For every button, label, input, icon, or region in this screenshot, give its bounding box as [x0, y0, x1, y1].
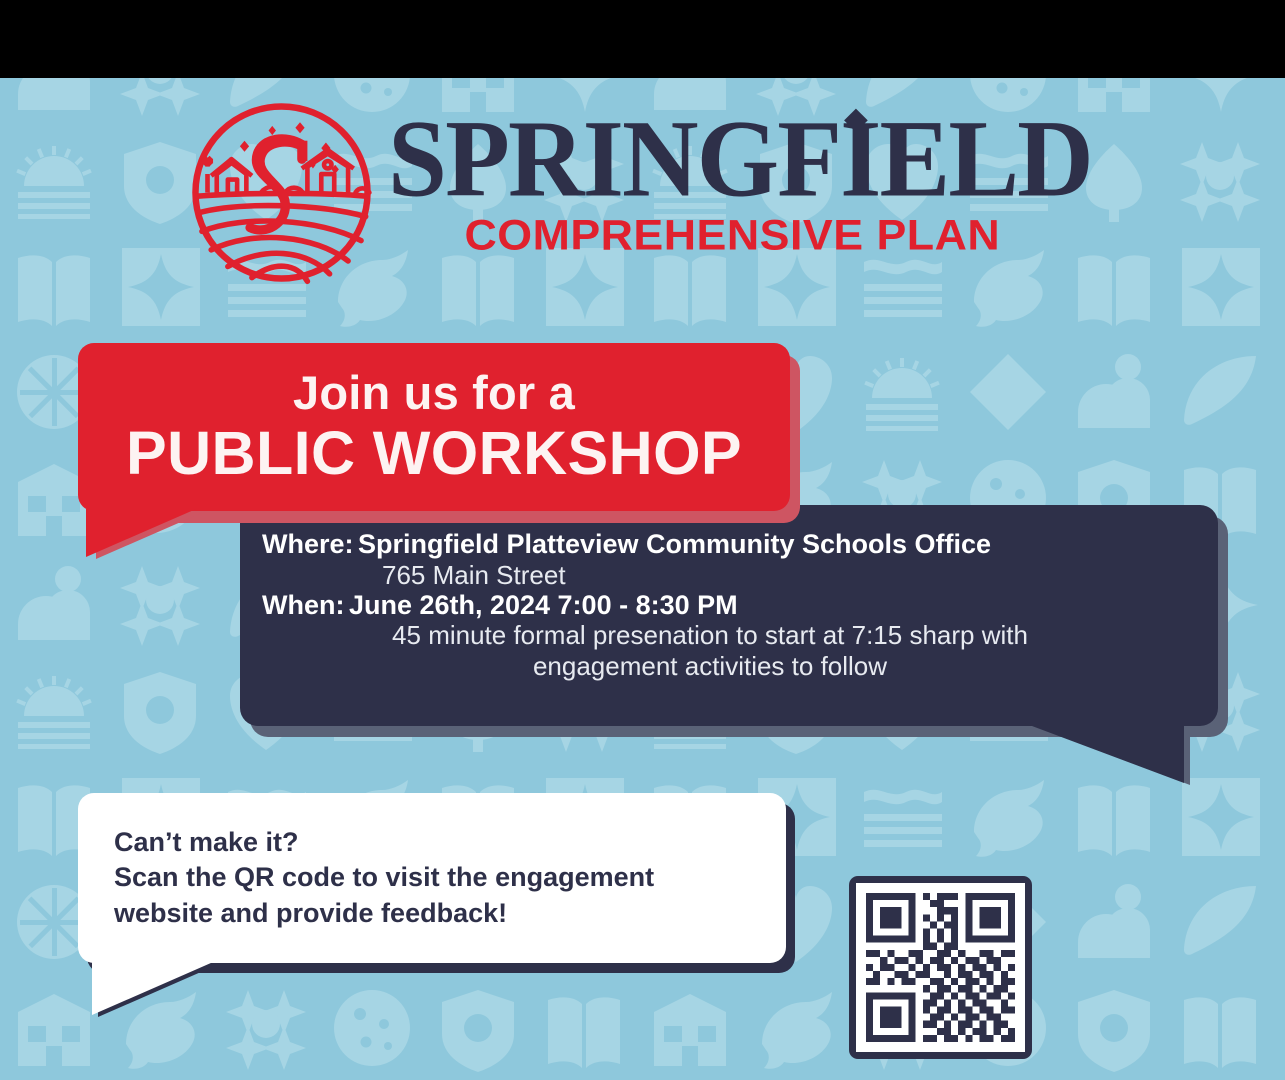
feedback-bubble: Can’t make it? Scan the QR code to visit… — [78, 793, 786, 963]
announcement-line-1: Join us for a — [293, 369, 575, 417]
feedback-line-1: Can’t make it? — [114, 825, 786, 861]
address-line: 765 Main Street — [262, 560, 1184, 590]
white-bubble-body: Can’t make it? Scan the QR code to visit… — [78, 793, 786, 963]
brand-header: SPRINGFIELD COMPREHENSIVE PLAN — [0, 96, 1285, 306]
red-bubble-body: Join us for a PUBLIC WORKSHOP — [78, 343, 790, 511]
announcement-bubble: Join us for a PUBLIC WORKSHOP — [78, 343, 790, 511]
poster-canvas: SPRINGFIELD COMPREHENSIVE PLAN Where: Sp… — [0, 78, 1285, 1080]
feedback-line-3: website and provide feedback! — [114, 896, 786, 932]
red-bubble-tail — [86, 509, 196, 557]
springfield-wordmark: SPRINGFIELD — [388, 102, 1096, 218]
wordmark-text: SPRINGFIELD — [388, 102, 1092, 218]
qr-code[interactable] — [849, 876, 1032, 1059]
event-details-bubble: Where: Springfield Platteview Community … — [240, 505, 1218, 726]
springfield-logo-icon — [189, 100, 374, 285]
where-row: Where: Springfield Platteview Community … — [262, 529, 1184, 560]
subtitle-text: COMPREHENSIVE PLAN — [465, 214, 1001, 258]
when-row: When: June 26th, 2024 7:00 - 8:30 PM — [262, 590, 1184, 621]
white-bubble-tail — [92, 959, 220, 1015]
qr-code-matrix — [866, 893, 1015, 1042]
navy-bubble-tail — [1024, 723, 1184, 783]
announcement-line-2: PUBLIC WORKSHOP — [126, 421, 742, 485]
brand-wordmark-group: SPRINGFIELD COMPREHENSIVE PLAN — [388, 102, 1096, 258]
flyer-poster: SPRINGFIELD COMPREHENSIVE PLAN Where: Sp… — [0, 0, 1285, 1080]
where-value: Springfield Platteview Community Schools… — [358, 529, 991, 559]
where-label: Where: — [262, 529, 354, 559]
brand-subtitle: COMPREHENSIVE PLAN — [388, 214, 1077, 258]
note-line-1: 45 minute formal presenation to start at… — [262, 620, 1184, 650]
qr-code-quiet-zone — [856, 883, 1025, 1052]
letterbox-top — [0, 0, 1285, 78]
feedback-line-2: Scan the QR code to visit the engagement — [114, 860, 786, 896]
navy-bubble-body: Where: Springfield Platteview Community … — [240, 505, 1218, 726]
note-line-2: engagement activities to follow — [262, 651, 1184, 681]
when-label: When: — [262, 590, 344, 620]
when-value: June 26th, 2024 7:00 - 8:30 PM — [349, 590, 738, 620]
